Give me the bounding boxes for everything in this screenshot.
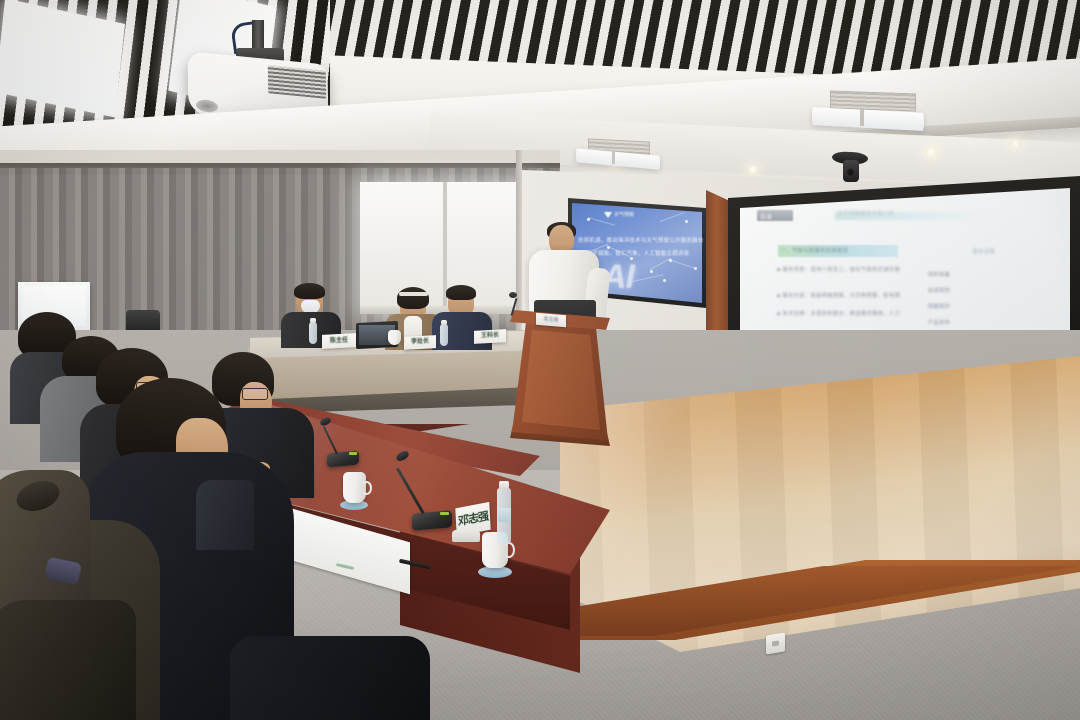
- name-placard-text: 李处长: [404, 335, 436, 350]
- conference-room-photo: 目录 天气预报服务专题介绍 一、气象为民服务总体情况 ■ 服务背景：坚持人民至上…: [0, 0, 1080, 720]
- placard-stand: [452, 530, 480, 542]
- slide-right-item: 产品发布: [928, 319, 1040, 328]
- water-bottle: [309, 322, 317, 344]
- slide-right-item: 预报制作: [928, 303, 1040, 312]
- slide-header-text: 天气预报服务专题介绍: [838, 210, 984, 219]
- bottle-label: [498, 508, 511, 522]
- slide-bullet: ■ 服务背景：坚持人民至上，强化气象防灾减灾第一道防线作用，推动天气预报服务提质…: [777, 266, 901, 283]
- downlight: [1010, 140, 1021, 147]
- coat-on-chair: [0, 600, 136, 720]
- slide-bullet: ■ 服务内容：智能网格预报、分灾种预警、影响预报与风险提示。: [777, 292, 901, 301]
- name-placard-text: 陈主任: [322, 333, 356, 349]
- attendee-shoulder: [196, 480, 254, 550]
- attendee-hair: [446, 285, 476, 300]
- name-placard: 陈主任: [322, 333, 356, 349]
- slide-right-title: 服务流程: [928, 248, 1040, 257]
- podium-card-text: 发言席: [536, 313, 566, 328]
- microphone-led-icon: [349, 452, 357, 455]
- projector-vent-icon: [268, 65, 326, 99]
- glasses-icon: [242, 388, 268, 400]
- diffuser-stem: [612, 150, 615, 164]
- slide-corner-badge: 目录: [760, 212, 790, 221]
- diffuser-stem: [860, 108, 864, 126]
- podium-card: 发言席: [536, 313, 566, 328]
- slide-right-item: 资料收集: [928, 271, 1040, 280]
- slide-highlight-bar: 一、气象为民服务总体情况: [781, 247, 895, 256]
- mug-handle: [361, 481, 372, 495]
- bottle-cap: [499, 481, 509, 489]
- downlight: [925, 148, 937, 156]
- name-placard: 王科长: [474, 329, 506, 344]
- podium-microphone-capsule: [509, 292, 517, 298]
- chair-back: [230, 636, 430, 720]
- logo-text: 天气预报: [614, 211, 634, 218]
- water-bottle: [440, 324, 448, 346]
- slide-bullet: ■ 技术支撑：多源资料融合、数值模式释用、人工智能订正与客观化预报。: [777, 310, 901, 327]
- secondary-screen-ai-word: AI: [602, 258, 662, 297]
- secondary-screen-logo: 天气预报: [604, 211, 634, 219]
- podium-body: [520, 330, 602, 430]
- microphone-led-icon: [440, 512, 449, 515]
- headband: [399, 292, 428, 296]
- mug: [388, 330, 401, 345]
- attendee-hair: [397, 287, 429, 309]
- bottle-cap: [441, 320, 447, 325]
- slide-right-item: 会商研判: [928, 287, 1040, 296]
- name-placard-text: 王科长: [474, 329, 506, 344]
- mug-handle: [503, 542, 515, 558]
- camera-lens-icon: [846, 168, 855, 177]
- attendee-hair: [294, 283, 325, 299]
- downlight: [748, 166, 758, 173]
- bottle-cap: [310, 318, 316, 323]
- logo-mark-icon: [604, 212, 612, 218]
- name-placard: 李处长: [404, 335, 436, 350]
- secondary-screen-line2: 数字赋能，智汇气象，人工智能主题讲座: [582, 249, 694, 257]
- secondary-screen-line1: 抢抓机遇，推动海洋技术与天气预报公开服务融合: [578, 236, 698, 244]
